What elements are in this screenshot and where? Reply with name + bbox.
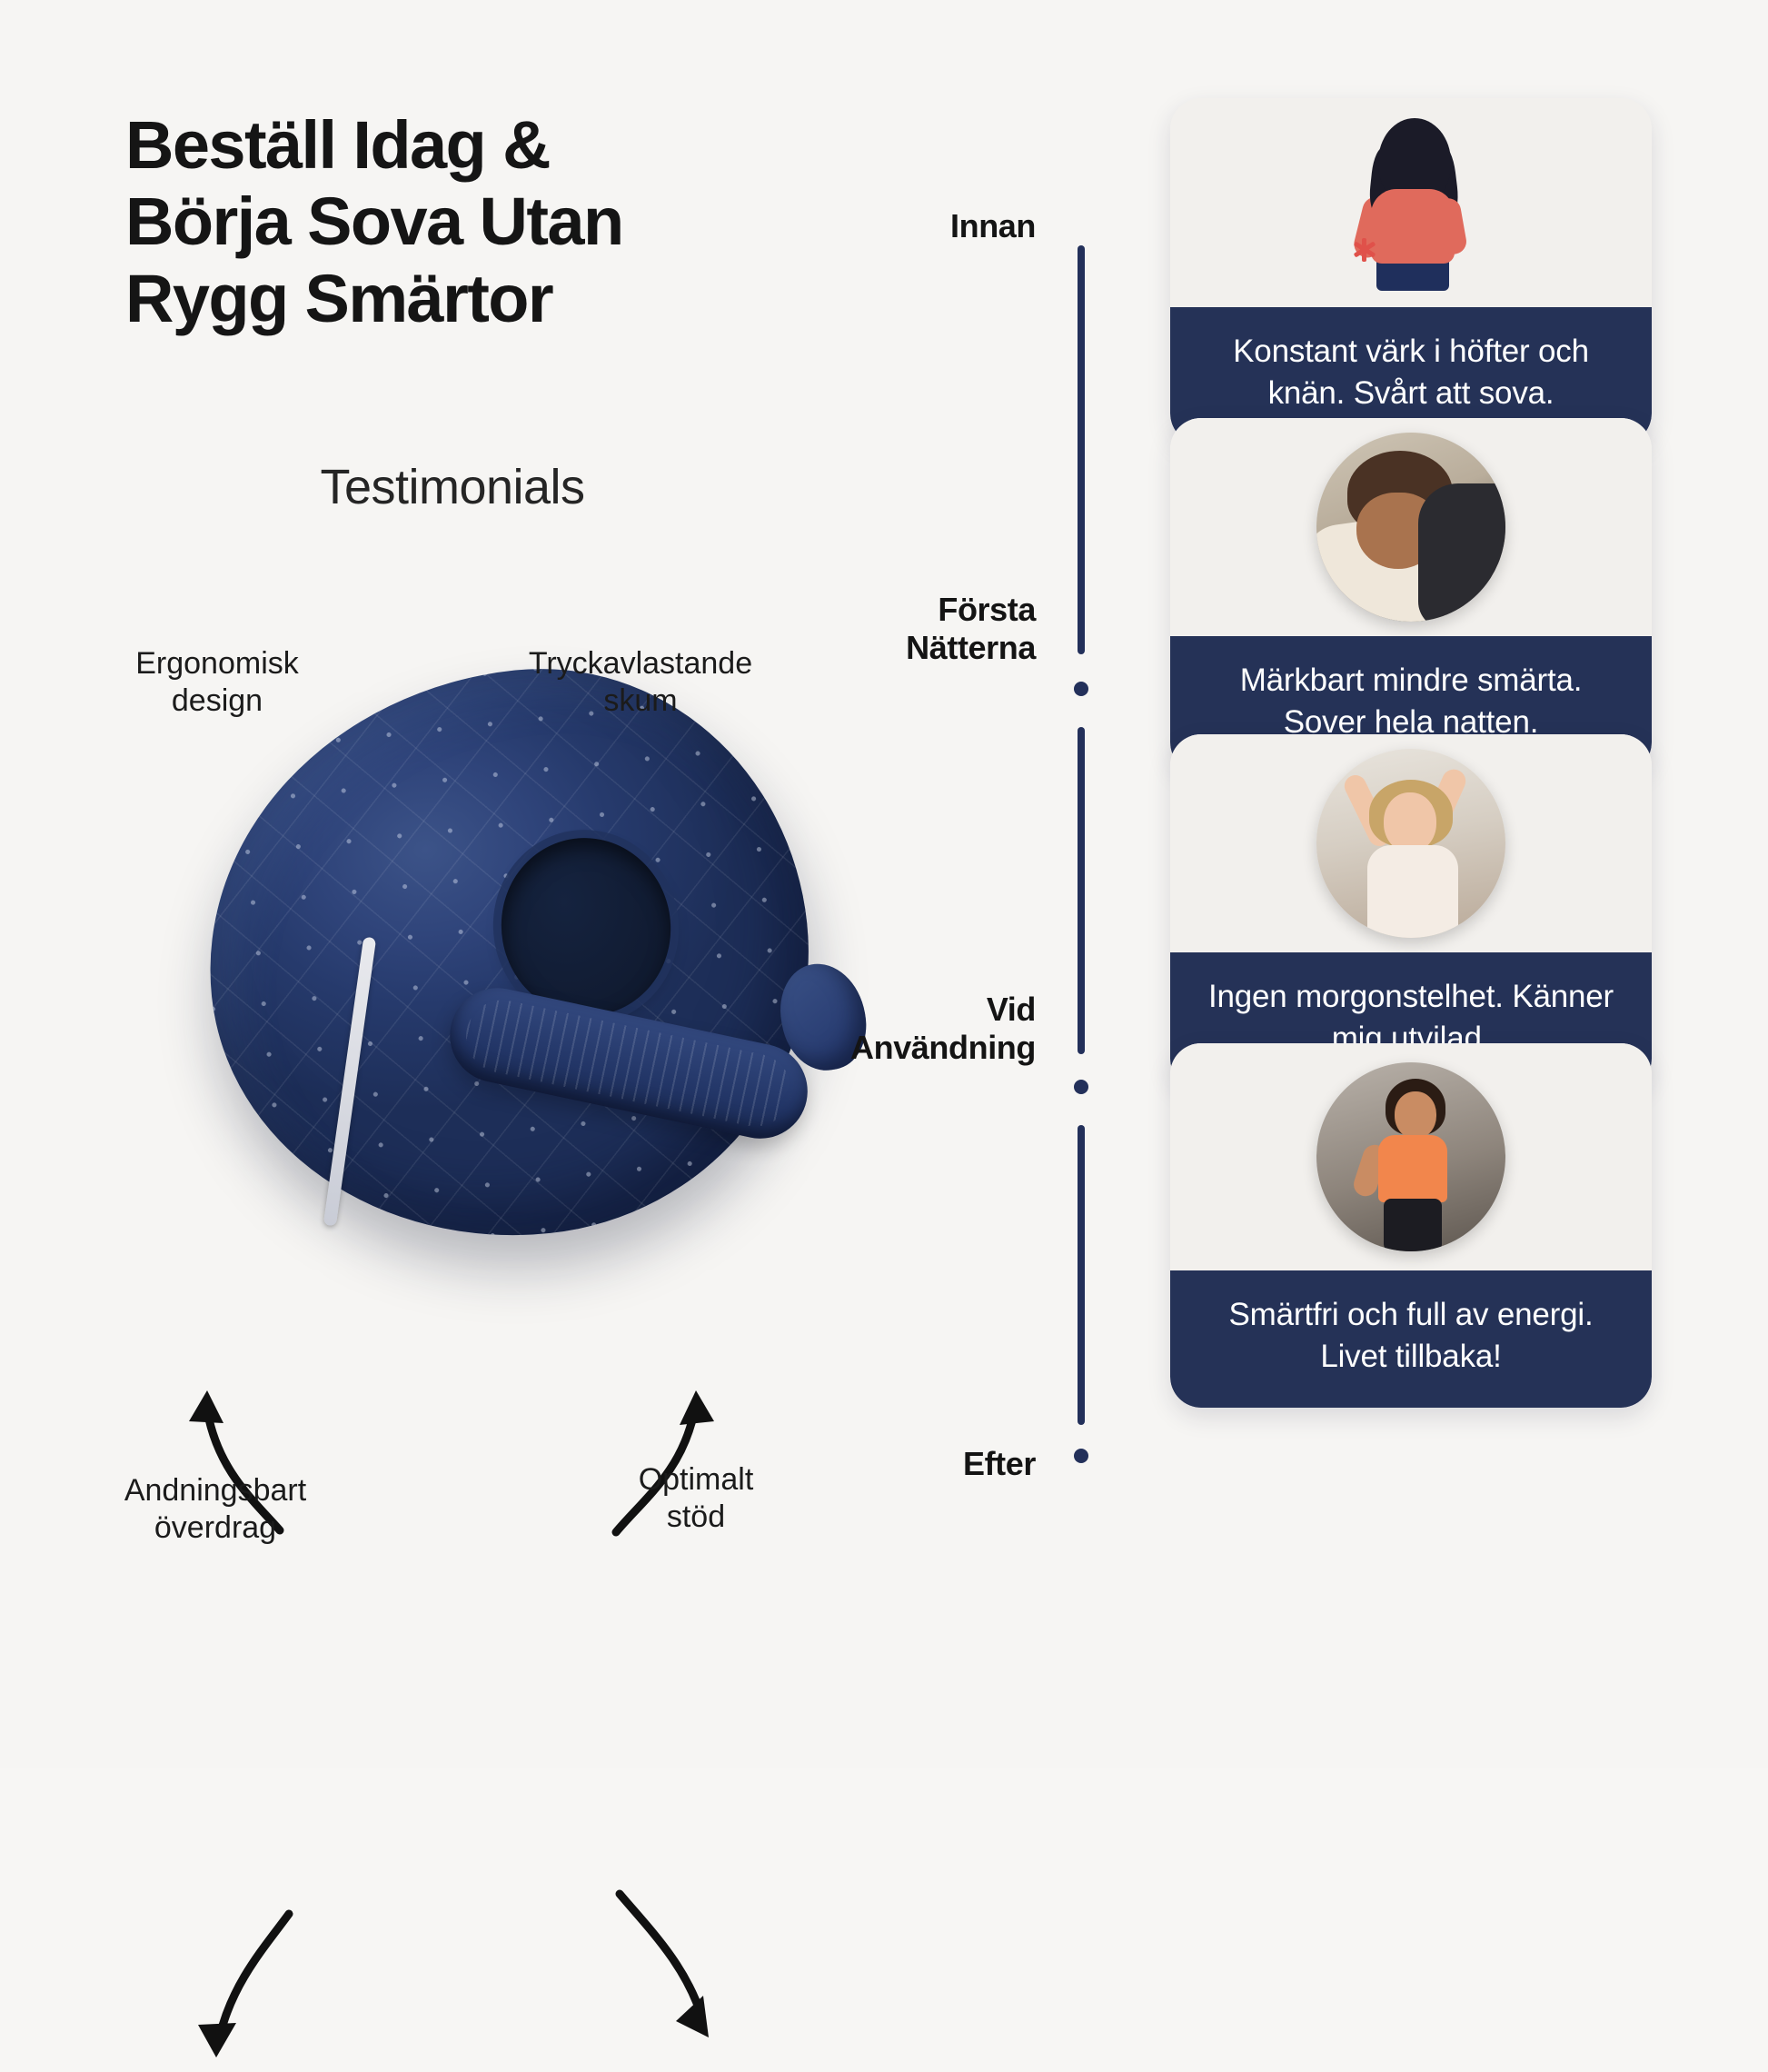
- timeline-label-line-1: Innan: [950, 207, 1036, 244]
- timeline-dot-1: [1074, 682, 1088, 696]
- feature-label-line-2: överdrag: [154, 1510, 276, 1545]
- feature-label-breathable-cover: Andningsbart överdrag: [74, 1472, 356, 1548]
- avatar-torso: [1367, 845, 1458, 938]
- timeline-label-line-2: Nätterna: [906, 629, 1036, 666]
- arrow-optimal-support-icon: [600, 1881, 763, 2054]
- timeline-label-efter: Efter: [781, 1445, 1036, 1483]
- avatar: [1316, 433, 1505, 622]
- card-image-woman-sleeping: [1170, 418, 1652, 636]
- card-image-woman-stretching: [1170, 734, 1652, 952]
- avatar-shorts: [1384, 1199, 1442, 1251]
- timeline-segment-1: [1078, 245, 1085, 654]
- pain-spark-icon: [1353, 238, 1376, 262]
- feature-label-line-2: design: [172, 683, 263, 718]
- arrow-breathable-cover-icon: [154, 1908, 309, 2072]
- feature-label-line-2: skum: [603, 683, 677, 718]
- testimonial-card-efter[interactable]: Smärtfri och full av energi. Livet tillb…: [1170, 1043, 1652, 1408]
- avatar: [1316, 1062, 1505, 1251]
- testimonial-card-vid-anvandning[interactable]: Ingen morgonstelhet. Känner mig utvilad.: [1170, 734, 1652, 1090]
- feature-label-line-1: Tryckavlastande: [529, 646, 752, 681]
- headline-line-1: Beställ Idag &: [125, 107, 907, 184]
- avatar-face: [1384, 792, 1436, 852]
- card-image-woman-running: [1170, 1043, 1652, 1270]
- timeline-dot-3: [1074, 1449, 1088, 1463]
- timeline-label-line-1: Första: [938, 591, 1036, 628]
- avatar-tank-top: [1378, 1135, 1447, 1202]
- testimonial-card-forsta-natterna[interactable]: Märkbart mindre smärta. Sover hela natte…: [1170, 418, 1652, 773]
- feature-label-line-2: stöd: [667, 1499, 725, 1534]
- pillow-image: [154, 636, 845, 1272]
- timeline-label-forsta-natterna: Första Nätterna: [745, 591, 1036, 668]
- feature-label-optimal-support: Optimalt stöd: [578, 1461, 814, 1537]
- testimonial-card-innan[interactable]: Konstant värk i höfter och knän. Svårt a…: [1170, 98, 1652, 444]
- avatar-face: [1395, 1091, 1436, 1139]
- feature-label-ergonomic-design: Ergonomisk design: [85, 645, 349, 721]
- avatar-blanket: [1418, 483, 1505, 622]
- timeline-spine: [1054, 100, 1108, 1681]
- timeline-segment-2: [1078, 727, 1085, 1054]
- timeline-label-line-2: Användning: [850, 1029, 1036, 1066]
- feature-label-line-1: Ergonomisk: [135, 646, 299, 681]
- timeline-label-vid-anvandning: Vid Användning: [718, 991, 1036, 1068]
- feature-label-line-1: Optimalt: [639, 1462, 754, 1497]
- avatar: [1316, 749, 1505, 938]
- card-image-woman-back-pain: [1170, 98, 1652, 307]
- infographic-canvas: Beställ Idag & Börja Sova Utan Rygg Smär…: [0, 0, 1768, 1768]
- feature-label-line-1: Andningsbart: [124, 1473, 306, 1508]
- timeline-label-innan: Innan: [781, 207, 1036, 245]
- card-quote: Smärtfri och full av energi. Livet tillb…: [1170, 1270, 1652, 1408]
- timeline-segment-3: [1078, 1125, 1085, 1425]
- back-pain-illustration-icon: [1347, 116, 1475, 289]
- timeline-dot-2: [1074, 1080, 1088, 1094]
- timeline-label-line-1: Vid: [987, 991, 1036, 1028]
- section-subtitle: Testimonials: [125, 459, 780, 515]
- headline-line-3: Rygg Smärtor: [125, 261, 907, 337]
- timeline-label-line-1: Efter: [963, 1445, 1036, 1482]
